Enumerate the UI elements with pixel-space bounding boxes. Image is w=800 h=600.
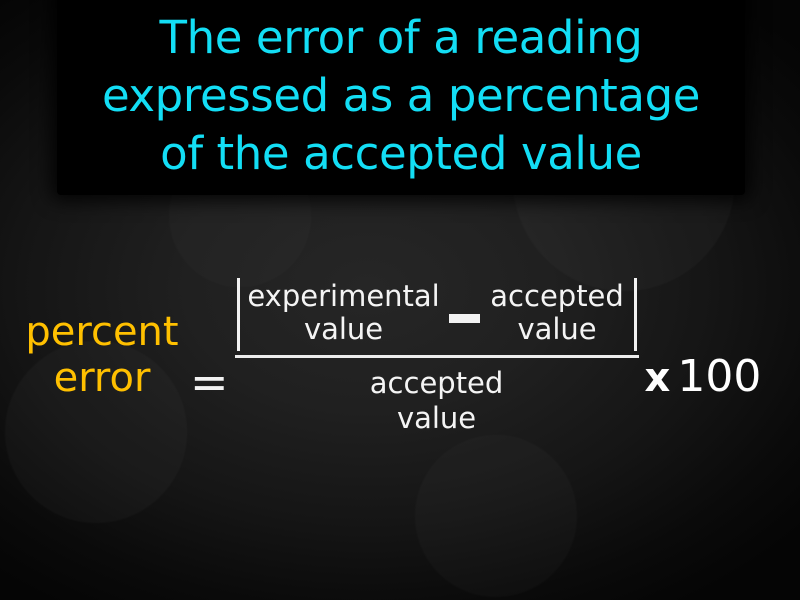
multiplication-symbol: x <box>645 358 671 398</box>
percent-error-formula: percent error = experimental value accep… <box>0 252 800 452</box>
absolute-value-bar-right <box>634 278 637 351</box>
fraction-denominator-accepted-value: accepted value <box>235 358 639 436</box>
numerator-term-accepted-value: accepted value <box>482 280 632 346</box>
formula-fraction: experimental value accepted value accept… <box>235 274 639 436</box>
multiplier-value: 100 <box>677 355 761 399</box>
slide-canvas: The error of a reading expressed as a pe… <box>0 0 800 600</box>
page-title: The error of a reading expressed as a pe… <box>57 9 745 195</box>
equals-sign: = <box>190 359 229 405</box>
minus-sign-icon <box>449 314 480 323</box>
multiplier-group: x 100 <box>645 355 762 399</box>
fraction-numerator: experimental value accepted value <box>235 274 639 354</box>
absolute-value-bar-left <box>237 278 240 351</box>
numerator-term-experimental-value: experimental value <box>241 280 446 346</box>
formula-label-percent-error: percent error <box>16 309 188 401</box>
title-banner: The error of a reading expressed as a pe… <box>57 0 745 195</box>
